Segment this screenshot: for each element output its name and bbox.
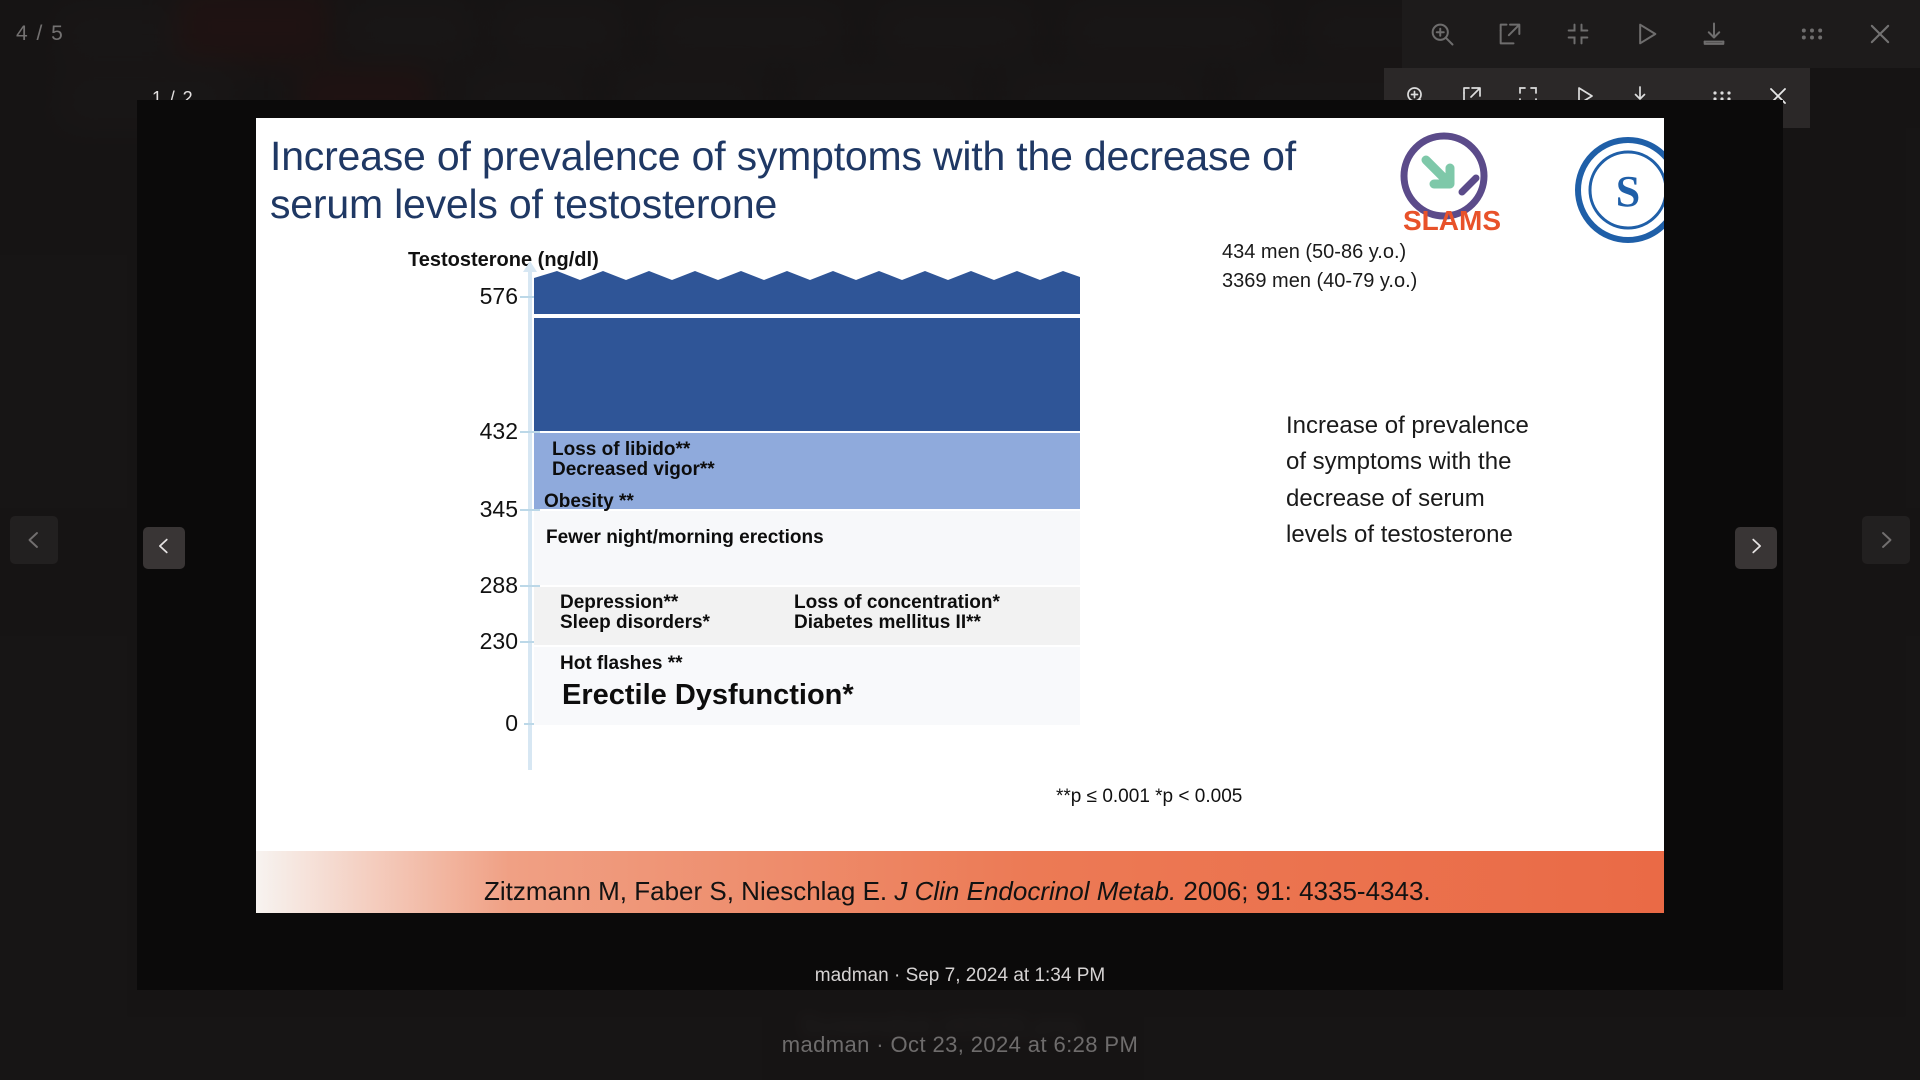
slide-image[interactable]: Increase of prevalence of symptoms with … (256, 118, 1664, 913)
inner-next-button[interactable] (1735, 527, 1777, 569)
y-tick-0: 0 (428, 710, 518, 737)
symptom-loss-of-libido: Loss of libido** (552, 439, 690, 461)
y-tick-576: 576 (428, 283, 518, 310)
inner-prev-button[interactable] (143, 527, 185, 569)
symptom-depression: Depression** (560, 592, 678, 614)
y-tick-230: 230 (428, 628, 518, 655)
symptom-fewer-erections: Fewer night/morning erections (546, 527, 824, 549)
symptom-obesity: Obesity ** (544, 491, 634, 513)
citation-journal: J Clin Endocrinol Metab. (894, 876, 1176, 906)
y-tick-432: 432 (428, 418, 518, 445)
symptom-erectile-dysfunction: Erectile Dysfunction* (562, 679, 854, 712)
inner-lightbox: 1 / 2 (0, 0, 1920, 1080)
y-axis-label: Testosterone (ng/dl) (408, 249, 599, 272)
p-value-note: **p ≤ 0.001 *p < 0.005 (1056, 786, 1242, 808)
symptom-decreased-vigor: Decreased vigor** (552, 459, 715, 481)
citation: Zitzmann M, Faber S, Nieschlag E. J Clin… (484, 876, 1431, 907)
citation-bar: Zitzmann M, Faber S, Nieschlag E. J Clin… (256, 851, 1664, 913)
citation-authors: Zitzmann M, Faber S, Nieschlag E. (484, 876, 887, 906)
testosterone-chart: Testosterone (ng/dl) 576 432 345 288 230… (256, 118, 1664, 913)
citation-detail: 2006; 91: 4335-4343. (1183, 876, 1430, 906)
symptom-hot-flashes: Hot flashes ** (560, 653, 682, 675)
y-axis-line (528, 270, 532, 770)
symptom-loss-of-concentration: Loss of concentration* (794, 592, 1000, 614)
symptom-diabetes-mellitus: Diabetes mellitus II** (794, 612, 981, 634)
y-tick-288: 288 (428, 572, 518, 599)
y-tick-345: 345 (428, 496, 518, 523)
band-top-dark (534, 285, 1080, 314)
inner-caption: madman · Sep 7, 2024 at 1:34 PM (140, 965, 1780, 987)
band-576-432 (534, 318, 1080, 431)
chevron-left-icon (153, 535, 175, 562)
symptom-sleep-disorders: Sleep disorders* (560, 612, 710, 634)
chevron-right-icon (1745, 535, 1767, 562)
